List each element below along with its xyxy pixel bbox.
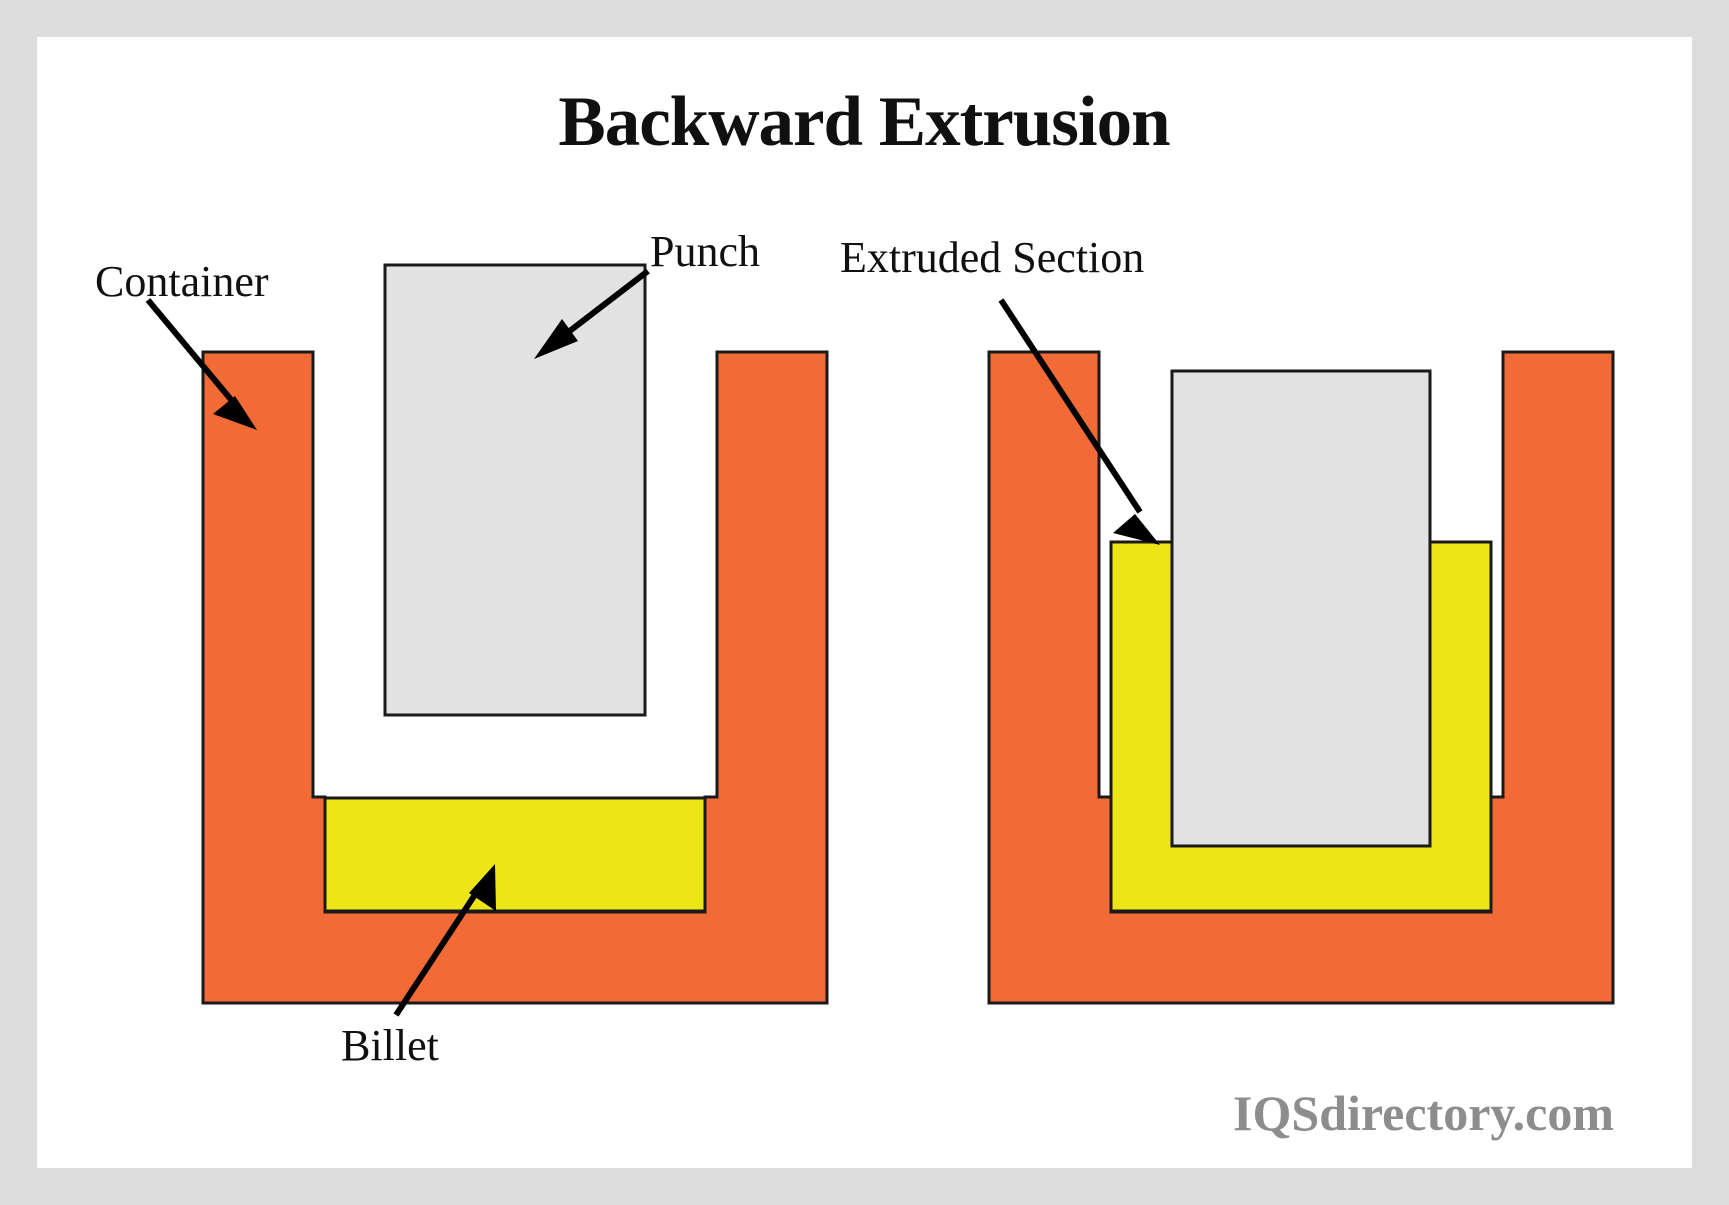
watermark: IQSdirectory.com (1233, 1085, 1614, 1141)
figure-frame: Backward Extrusion (0, 0, 1729, 1205)
label-extruded-section: Extruded Section (840, 233, 1144, 282)
billet-shape (325, 798, 705, 911)
backward-extrusion-diagram: Backward Extrusion (0, 0, 1729, 1205)
stage-after-extrusion (989, 352, 1613, 1003)
label-container: Container (95, 257, 269, 306)
page-title: Backward Extrusion (558, 83, 1170, 161)
label-punch: Punch (650, 227, 760, 276)
stage-before-extrusion (203, 265, 827, 1003)
punch-shape-right (1172, 371, 1430, 846)
punch-shape-left (385, 265, 645, 715)
label-billet: Billet (341, 1021, 439, 1070)
